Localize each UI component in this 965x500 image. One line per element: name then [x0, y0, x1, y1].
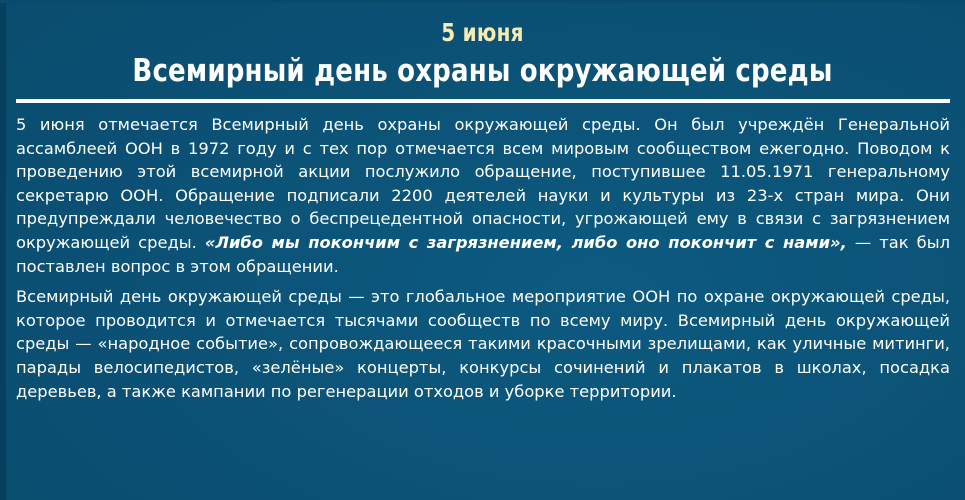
header-date: 5 июня: [97, 0, 869, 48]
page-title: Всемирный день охраны окружающей среды: [77, 48, 888, 89]
header-divider: [16, 99, 950, 103]
paragraph-1-quote: «Либо мы покончим с загрязнением, либо о…: [205, 233, 847, 252]
body-paragraph-2: Всемирный день окружающей среды — это гл…: [16, 285, 950, 403]
slide-header: 5 июня Всемирный день охраны окружающей …: [0, 0, 965, 89]
slide-canvas: 5 июня Всемирный день охраны окружающей …: [0, 0, 965, 500]
paragraph-1-text-before-quote: 5 июня отмечается Всемирный день охраны …: [16, 115, 950, 252]
slide-body: 5 июня отмечается Всемирный день охраны …: [16, 113, 950, 403]
body-paragraph-1: 5 июня отмечается Всемирный день охраны …: [16, 113, 950, 278]
